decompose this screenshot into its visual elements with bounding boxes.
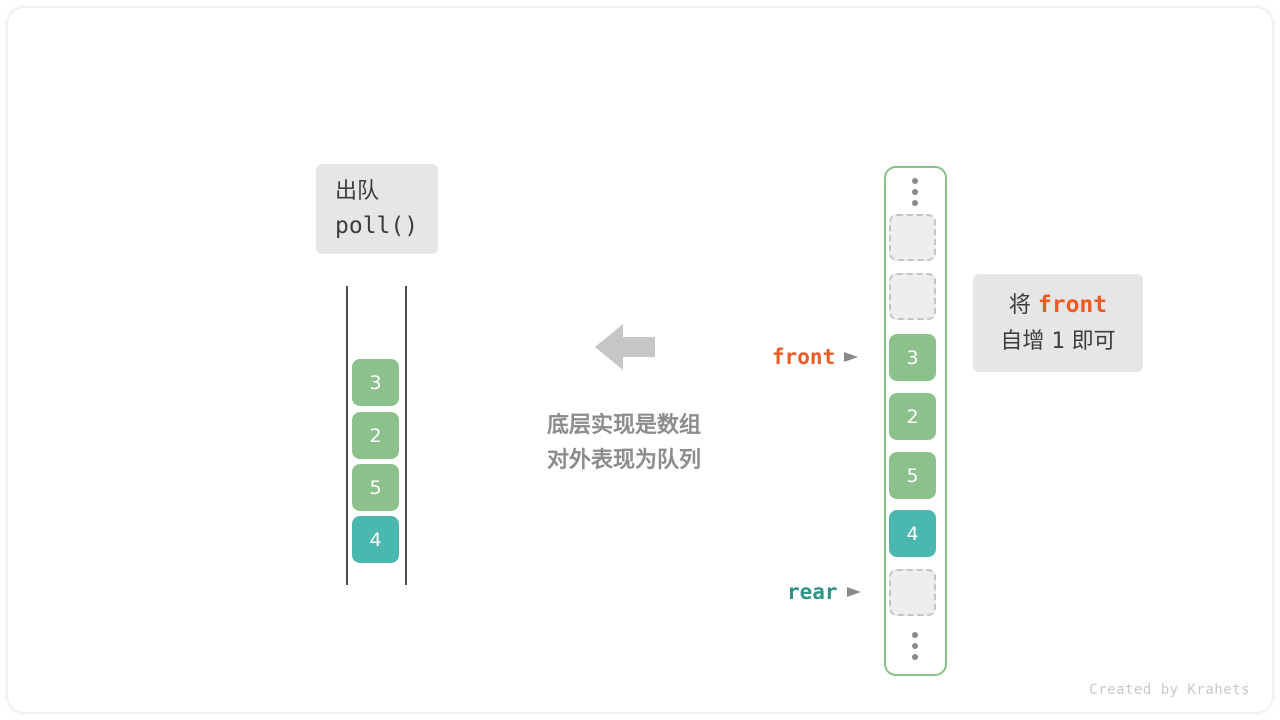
- array-cell-6: [889, 569, 936, 616]
- center-caption-line-1: 底层实现是数组: [464, 408, 784, 443]
- front-note-code: front: [1038, 287, 1107, 323]
- front-note-line2-prefix: 自增: [1000, 324, 1051, 360]
- queue-cell-2: 5: [352, 464, 399, 511]
- poll-label-box: 出队 poll(): [316, 164, 438, 254]
- array-cell-5: 4: [889, 510, 936, 557]
- array-cell-0: [889, 214, 936, 261]
- rear-pointer: rear: [787, 580, 863, 604]
- credit-text: Created by Krahets: [1089, 682, 1250, 698]
- array-cell-3: 2: [889, 393, 936, 440]
- poll-label-line-2: poll(): [335, 209, 419, 243]
- queue-rail-right: [405, 286, 407, 585]
- array-top-ellipsis-icon: [912, 178, 918, 206]
- queue-cell-0: 3: [352, 359, 399, 406]
- queue-cell-3: 4: [352, 516, 399, 563]
- figure-canvas: 出队 poll() 3 2 5 4 底层实现是数组 对外表现为队列 front …: [0, 0, 1280, 720]
- front-note-line-1: 将 front: [1009, 287, 1107, 324]
- front-note-box: 将 front 自增 1 即可: [973, 274, 1143, 372]
- front-note-line2-number: 1: [1051, 324, 1064, 360]
- center-caption: 底层实现是数组 对外表现为队列: [464, 408, 784, 478]
- center-caption-line-2: 对外表现为队列: [464, 443, 784, 478]
- rear-pointer-arrow-icon: [847, 585, 863, 599]
- queue-cell-1: 2: [352, 412, 399, 459]
- front-pointer-arrow-icon: [844, 350, 860, 364]
- left-block-arrow-icon: [595, 322, 655, 372]
- front-pointer-label: front: [772, 345, 835, 369]
- array-cell-1: [889, 273, 936, 320]
- front-note-prefix: 将: [1009, 288, 1038, 324]
- rear-pointer-label: rear: [787, 580, 838, 604]
- queue-rail-left: [346, 286, 348, 585]
- array-cell-4: 5: [889, 452, 936, 499]
- front-note-line2-suffix: 即可: [1065, 324, 1116, 360]
- poll-label-line-1: 出队: [335, 175, 419, 209]
- array-bottom-ellipsis-icon: [912, 632, 918, 660]
- array-cell-2: 3: [889, 334, 936, 381]
- front-note-line-2: 自增 1 即可: [1000, 324, 1115, 360]
- front-pointer: front: [772, 345, 860, 369]
